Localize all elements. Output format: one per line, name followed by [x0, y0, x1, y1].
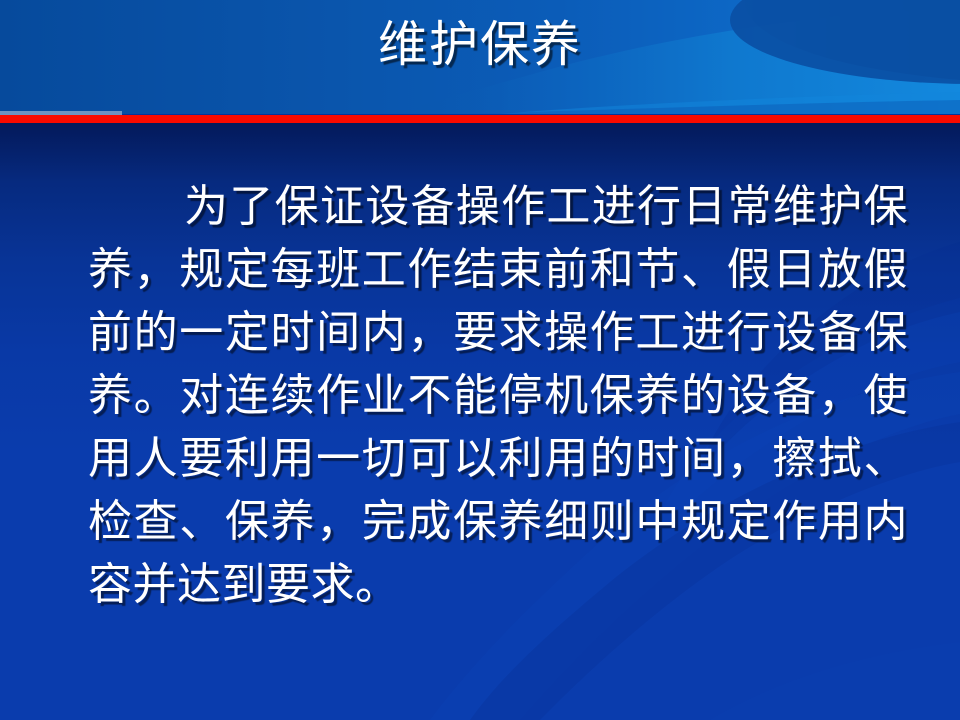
red-accent-rule [0, 115, 960, 123]
slide-body-text: 为了保证设备操作工进行日常维护保养，规定每班工作结束前和节、假日放假前的一定时间… [88, 175, 908, 616]
slide-title: 维护保养 [0, 14, 960, 76]
presentation-slide: 维护保养 为了保证设备操作工进行日常维护保养，规定每班工作结束前和节、假日放假前… [0, 0, 960, 720]
